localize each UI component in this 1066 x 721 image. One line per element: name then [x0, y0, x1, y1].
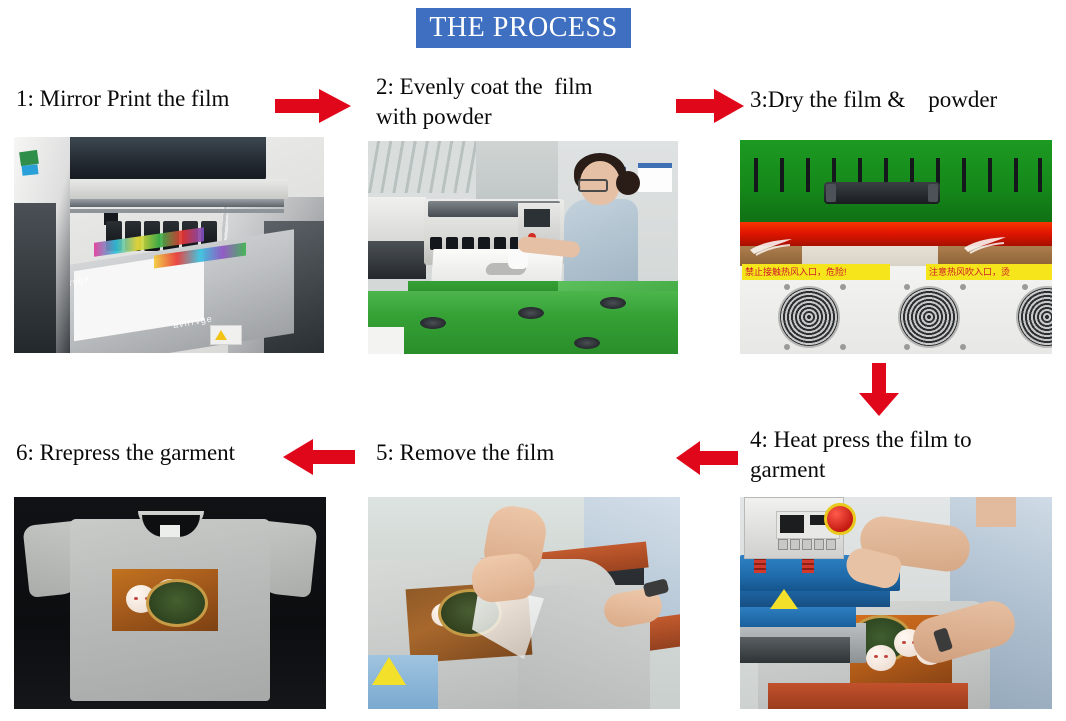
step-3-caption: 3:Dry the film & powder — [750, 85, 1055, 115]
process-infographic: THE PROCESS 1: Mirror Print the film avi… — [0, 0, 1066, 721]
artwork-bun-1 — [866, 645, 896, 671]
step-1-photo: avirrvge avirrvge — [14, 137, 324, 353]
printer-top-bar — [52, 179, 288, 199]
printer-rail — [54, 199, 284, 207]
tshirt-neck-tag — [160, 525, 180, 537]
press-button-row[interactable] — [778, 537, 836, 551]
dryer-green-hood — [740, 140, 1052, 222]
printer-warning-label — [210, 325, 242, 345]
printer-lid — [66, 137, 266, 181]
press-emergency-stop-button[interactable] — [824, 503, 856, 535]
dryer-brand-mark-right — [962, 234, 1008, 261]
table-vent-3 — [600, 297, 626, 309]
dryer-warning-label-right: 注意热风吹入口，烫 — [926, 264, 1052, 280]
wall-notice-right — [638, 163, 672, 192]
dryer-hood-handle — [824, 182, 940, 204]
press-secondary-readout — [780, 523, 804, 533]
page-title: THE PROCESS — [416, 8, 631, 48]
dryer-fan-bolt — [784, 284, 790, 290]
step-1-caption: 1: Mirror Print the film — [16, 84, 281, 114]
step-4-photo — [740, 497, 1052, 709]
page-title-text: THE PROCESS — [429, 12, 617, 44]
arrow-step5-to-step6 — [283, 438, 355, 476]
printer-left-dark-unit — [14, 203, 56, 353]
dryer-fan-grille-2 — [900, 288, 958, 346]
dryer-slat — [1038, 158, 1042, 192]
dryer-fan-bolt — [840, 284, 846, 290]
dryer-fan-bolt — [1022, 284, 1028, 290]
dryer-brand-mark-left — [748, 236, 794, 263]
press-base-shadow — [740, 637, 850, 663]
dryer-warning-label-left: 禁止接触热风入口，危险! — [742, 264, 890, 280]
step-6-photo — [14, 497, 326, 709]
press-red-pad — [768, 683, 968, 709]
step-3-photo: 禁止接触热风入口，危险! 注意热风吹入口，烫 — [740, 140, 1052, 354]
dryer-fan-bolt — [904, 344, 910, 350]
dryer-fan-bolt — [784, 344, 790, 350]
shaker-left-dark-base — [368, 241, 426, 279]
dryer-slat — [962, 158, 966, 192]
arrow-step4-to-step5 — [676, 440, 738, 476]
dryer-slat — [1014, 158, 1018, 192]
step-6-caption: 6: Rrepress the garment — [16, 438, 278, 468]
powder-cup — [508, 251, 528, 269]
table-vent-4 — [574, 337, 600, 349]
arrow-step3-to-step4 — [858, 363, 900, 417]
step-2-caption: 2: Evenly coat the film with powder — [376, 72, 641, 132]
arrow-step2-to-step3 — [676, 88, 744, 124]
step-5-photo — [368, 497, 680, 709]
printer-rail-lower — [54, 209, 284, 213]
powder-shaker-display — [524, 209, 550, 227]
worker-glasses — [578, 179, 608, 192]
worker-hair-bun — [616, 171, 640, 195]
step-5-caption: 5: Remove the film — [376, 438, 626, 468]
arrow-step1-to-step2 — [275, 88, 351, 124]
step-4-caption: 4: Heat press the film to garment — [750, 425, 1030, 485]
dryer-fan-bolt — [960, 344, 966, 350]
dryer-slat — [988, 158, 992, 192]
table-vent-2 — [518, 307, 544, 319]
green-table — [368, 291, 678, 354]
table-paper-sheet — [368, 327, 404, 354]
peel-operator-hand — [470, 552, 536, 604]
dryer-warning-text-left: 禁止接触热风入口，危险! — [745, 265, 847, 278]
dryer-fan-bolt — [960, 284, 966, 290]
wall-blind-panel — [368, 141, 488, 193]
dryer-slat — [806, 158, 810, 192]
dryer-fan-bolt — [904, 284, 910, 290]
dryer-slat — [754, 158, 758, 192]
table-vent-1 — [420, 317, 446, 329]
press-lower-arm — [740, 605, 856, 627]
printer-sticker-blue — [22, 164, 39, 176]
dryer-fan-grille-1 — [780, 288, 838, 346]
press-operator-neck — [976, 497, 1016, 527]
artwork-steamer-basket — [146, 579, 208, 627]
dryer-warning-text-right: 注意热风吹入口，烫 — [929, 265, 1010, 278]
dryer-slat — [780, 158, 784, 192]
dryer-fan-bolt — [840, 344, 846, 350]
step-2-photo — [368, 141, 678, 354]
